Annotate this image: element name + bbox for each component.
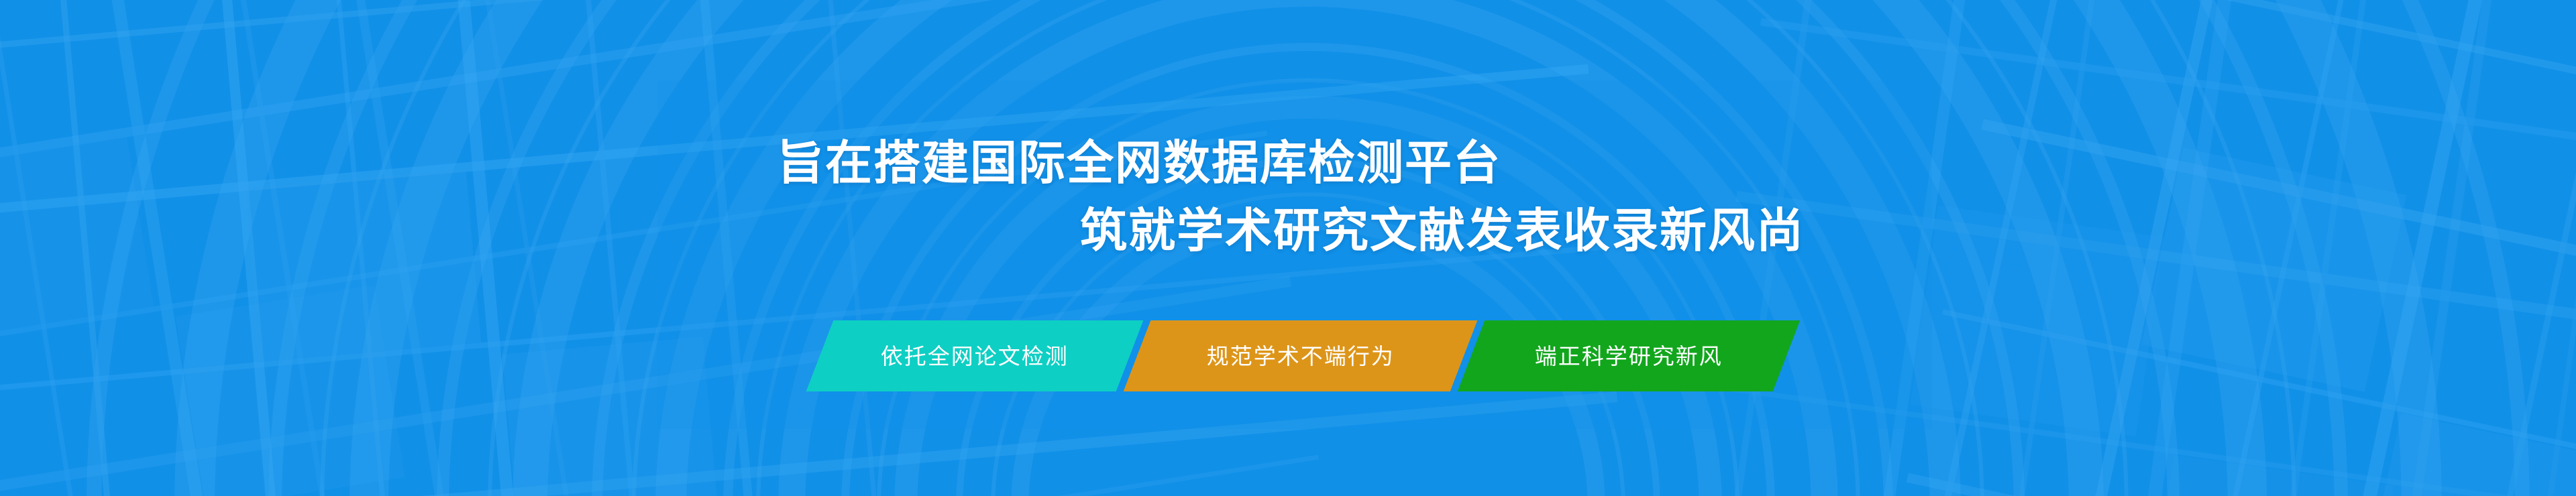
feature-tag-label: 依托全网论文检测: [881, 345, 1069, 367]
banner-content: 旨在搭建国际全网数据库检测平台 筑就学术研究文献发表收录新风尚 依托全网论文检测…: [0, 0, 2576, 496]
headline-line-2: 筑就学术研究文献发表收录新风尚: [1080, 207, 1805, 254]
feature-tag-strip: 依托全网论文检测 规范学术不端行为 端正科学研究新风: [785, 320, 1818, 391]
feature-tag-research-ethos[interactable]: 端正科学研究新风: [1458, 320, 1801, 391]
feature-tag-label: 规范学术不端行为: [1207, 345, 1395, 367]
headline-line-1: 旨在搭建国际全网数据库检测平台: [777, 139, 1501, 186]
feature-tag-academic-misconduct[interactable]: 规范学术不端行为: [1124, 320, 1478, 391]
feature-tag-paper-detection[interactable]: 依托全网论文检测: [806, 320, 1144, 391]
feature-tag-label: 端正科学研究新风: [1535, 345, 1723, 367]
promo-banner: 旨在搭建国际全网数据库检测平台 筑就学术研究文献发表收录新风尚 依托全网论文检测…: [0, 0, 2576, 496]
